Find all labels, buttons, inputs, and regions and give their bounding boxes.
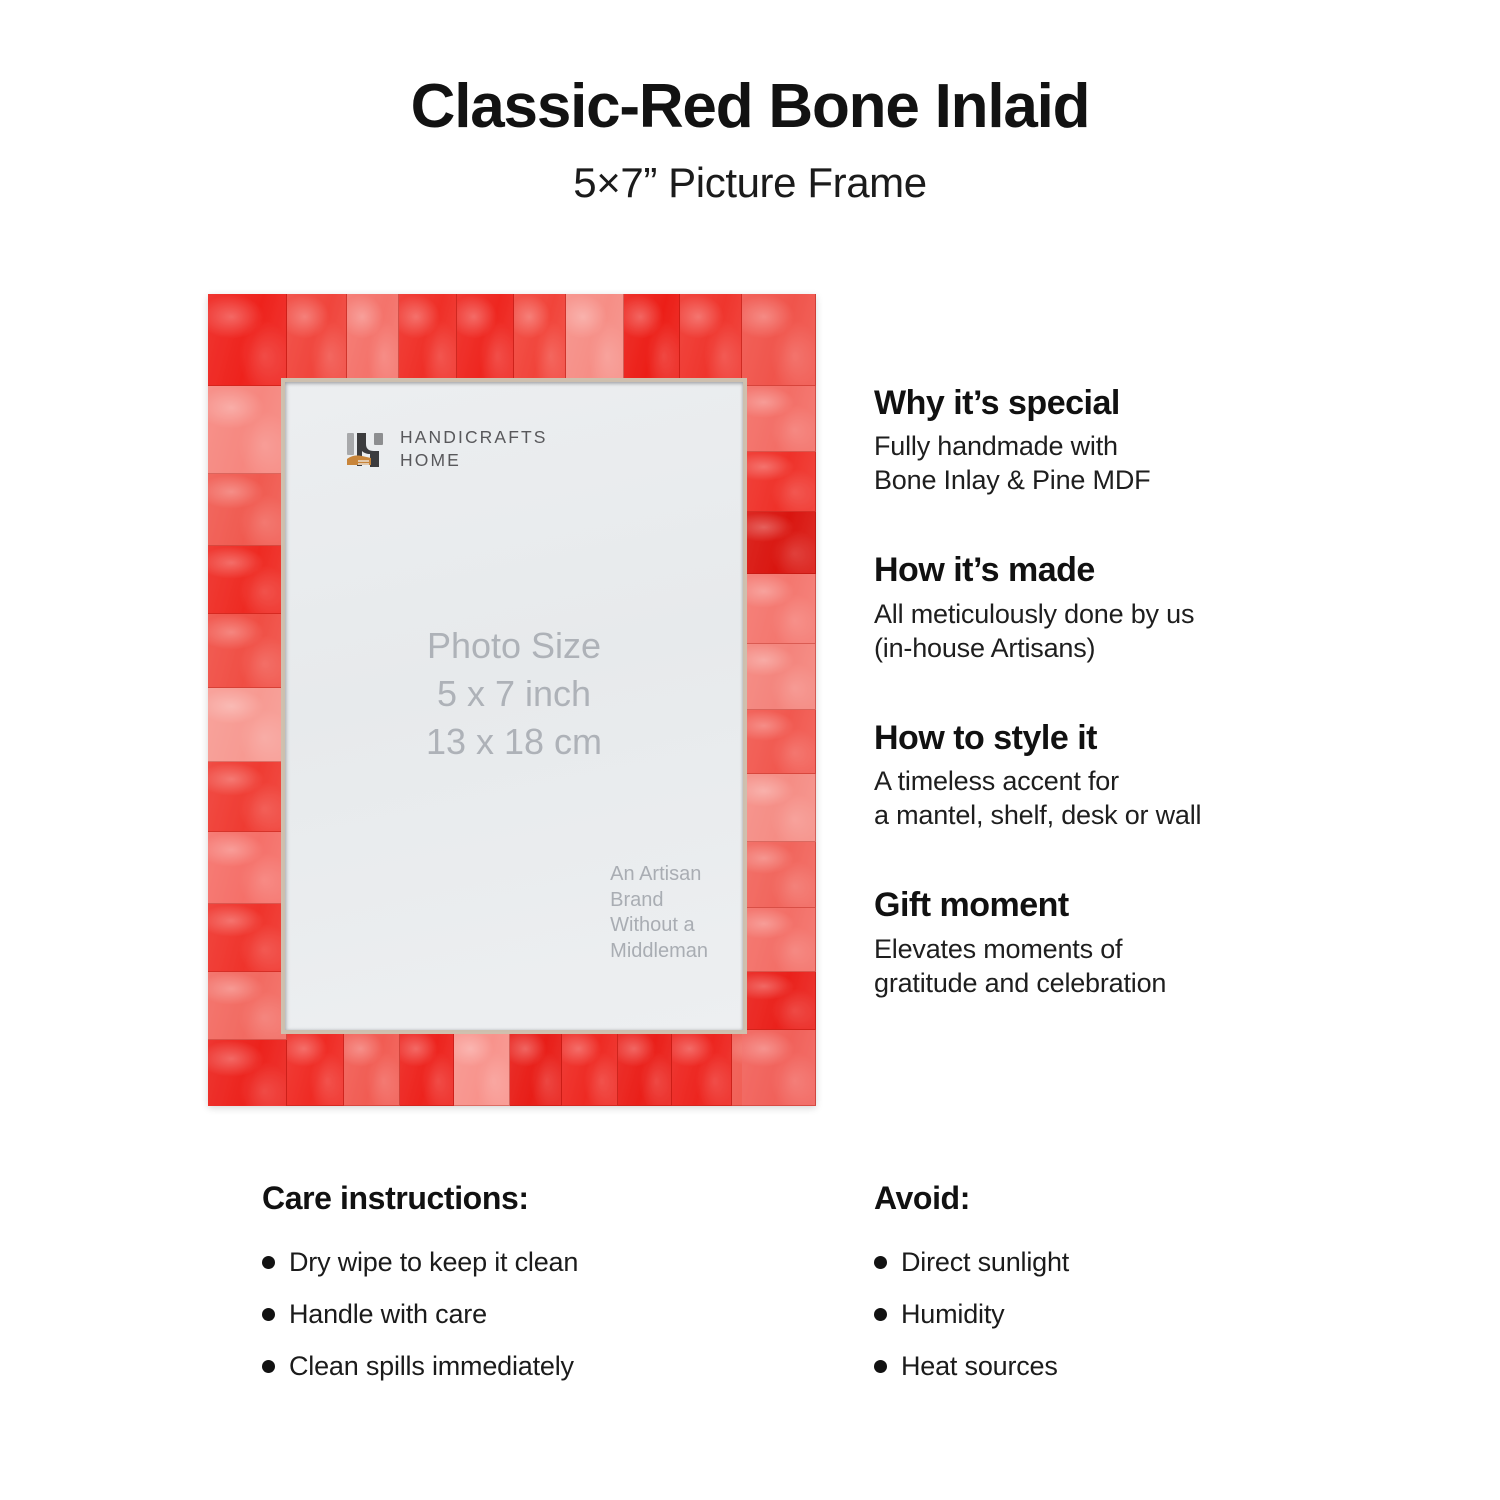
bone-inlay-tile <box>454 1030 510 1106</box>
bone-inlay-tile <box>400 1030 454 1106</box>
page-title: Classic-Red Bone Inlaid <box>0 74 1500 139</box>
list-item-label: Heat sources <box>901 1351 1058 1382</box>
bone-inlay-tile <box>742 294 816 386</box>
bullet-dot-icon <box>262 1256 275 1269</box>
bone-inlay-tile <box>742 908 816 972</box>
handicrafts-home-logo-icon <box>345 428 387 470</box>
photo-size-centimeters: 13 x 18 cm <box>285 718 743 766</box>
bone-inlay-tile <box>742 972 816 1030</box>
bone-inlay-tile <box>344 1030 400 1106</box>
page-subtitle: 5×7” Picture Frame <box>0 159 1500 207</box>
bone-inlay-tile <box>672 1030 732 1106</box>
feature-title: Gift moment <box>874 886 1294 925</box>
bone-inlay-tile <box>208 1040 287 1106</box>
bone-inlay-tile <box>742 386 816 452</box>
list-item-label: Clean spills immediately <box>289 1351 574 1382</box>
photo-size-block: Photo Size 5 x 7 inch 13 x 18 cm <box>285 622 743 766</box>
bone-inlay-tile <box>680 294 742 386</box>
list-item: Humidity <box>874 1299 1294 1330</box>
product-infographic: Classic-Red Bone Inlaid 5×7” Picture Fra… <box>0 0 1500 1500</box>
bone-inlay-tile <box>457 294 514 386</box>
bullet-dot-icon <box>874 1308 887 1321</box>
bone-inlay-tile <box>208 546 287 614</box>
feature-title: How to style it <box>874 719 1294 758</box>
list-item-label: Direct sunlight <box>901 1247 1069 1278</box>
bone-inlay-tile <box>208 904 287 972</box>
bullet-dot-icon <box>874 1256 887 1269</box>
feature-block: How to style itA timeless accent for a m… <box>874 719 1294 832</box>
list-item: Clean spills immediately <box>262 1351 782 1382</box>
frame-tiles-left <box>208 294 287 1106</box>
bone-inlay-frame-border: HANDICRAFTS HOME Photo Size 5 x 7 inch 1… <box>208 294 816 1106</box>
bullet-dot-icon <box>262 1308 275 1321</box>
feature-body: All meticulously done by us (in-house Ar… <box>874 597 1294 665</box>
care-instructions-title: Care instructions: <box>262 1180 782 1217</box>
bone-inlay-tile <box>742 644 816 710</box>
care-instructions-list: Dry wipe to keep it cleanHandle with car… <box>262 1247 782 1382</box>
bone-inlay-tile <box>208 762 287 832</box>
bone-inlay-tile <box>742 774 816 842</box>
avoid-section: Avoid: Direct sunlightHumidityHeat sourc… <box>874 1180 1294 1403</box>
bone-inlay-tile <box>208 972 287 1040</box>
list-item-label: Humidity <box>901 1299 1004 1330</box>
bone-inlay-tile <box>208 474 287 546</box>
brand-lockup: HANDICRAFTS HOME <box>345 426 548 472</box>
bone-inlay-tile <box>208 294 287 386</box>
avoid-title: Avoid: <box>874 1180 1294 1217</box>
care-instructions-section: Care instructions: Dry wipe to keep it c… <box>262 1180 782 1403</box>
photo-size-inches: 5 x 7 inch <box>285 670 743 718</box>
feature-title: Why it’s special <box>874 384 1294 423</box>
header: Classic-Red Bone Inlaid 5×7” Picture Fra… <box>0 74 1500 207</box>
frame-tiles-top <box>208 294 816 386</box>
bone-inlay-tile <box>562 1030 618 1106</box>
bone-inlay-tile <box>514 294 566 386</box>
bone-inlay-tile <box>742 452 816 512</box>
bone-inlay-tile <box>287 294 347 386</box>
bone-inlay-tile <box>208 688 287 762</box>
feature-body: Elevates moments of gratitude and celebr… <box>874 932 1294 1000</box>
bone-inlay-tile <box>287 1030 344 1106</box>
feature-title: How it’s made <box>874 551 1294 590</box>
photo-size-label: Photo Size <box>285 622 743 670</box>
list-item: Direct sunlight <box>874 1247 1294 1278</box>
bone-inlay-tile <box>742 710 816 774</box>
list-item-label: Dry wipe to keep it clean <box>289 1247 578 1278</box>
artisan-brand-note: An Artisan Brand Without a Middleman <box>610 862 708 964</box>
product-image-picture-frame: HANDICRAFTS HOME Photo Size 5 x 7 inch 1… <box>208 294 816 1106</box>
list-item-label: Handle with care <box>289 1299 487 1330</box>
bone-inlay-tile <box>208 386 287 474</box>
feature-body: Fully handmade with Bone Inlay & Pine MD… <box>874 429 1294 497</box>
frame-tiles-right <box>742 294 816 1106</box>
bone-inlay-tile <box>208 832 287 904</box>
bone-inlay-tile <box>399 294 457 386</box>
bone-inlay-tile <box>347 294 399 386</box>
bone-inlay-tile <box>510 1030 562 1106</box>
bullet-dot-icon <box>874 1360 887 1373</box>
bullet-dot-icon <box>262 1360 275 1373</box>
list-item: Handle with care <box>262 1299 782 1330</box>
brand-wordmark: HANDICRAFTS HOME <box>400 426 548 472</box>
photo-mat-window: HANDICRAFTS HOME Photo Size 5 x 7 inch 1… <box>285 382 743 1030</box>
frame-tiles-bottom <box>208 1030 816 1106</box>
bone-inlay-tile <box>618 1030 672 1106</box>
bone-inlay-tile <box>742 512 816 574</box>
bone-inlay-tile <box>742 842 816 908</box>
feature-block: How it’s madeAll meticulously done by us… <box>874 551 1294 664</box>
feature-body: A timeless accent for a mantel, shelf, d… <box>874 764 1294 832</box>
feature-list: Why it’s specialFully handmade with Bone… <box>874 384 1294 1000</box>
bone-inlay-tile <box>742 1030 816 1106</box>
list-item: Dry wipe to keep it clean <box>262 1247 782 1278</box>
feature-block: Gift momentElevates moments of gratitude… <box>874 886 1294 999</box>
bone-inlay-tile <box>566 294 624 386</box>
bone-inlay-tile <box>624 294 680 386</box>
avoid-list: Direct sunlightHumidityHeat sources <box>874 1247 1294 1382</box>
list-item: Heat sources <box>874 1351 1294 1382</box>
feature-block: Why it’s specialFully handmade with Bone… <box>874 384 1294 497</box>
bone-inlay-tile <box>742 574 816 644</box>
bone-inlay-tile <box>208 614 287 688</box>
